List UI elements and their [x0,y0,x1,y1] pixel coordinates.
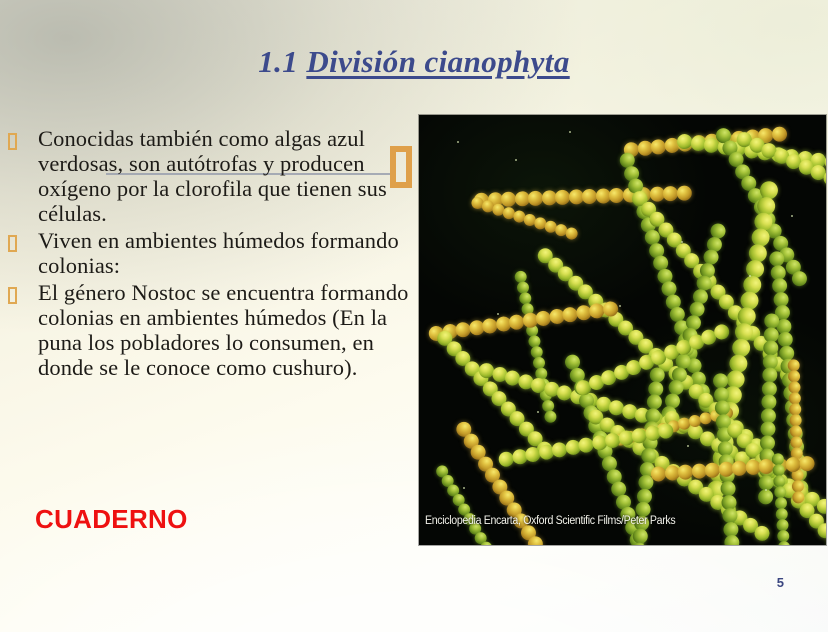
title-underlined-text: División cianophyta [306,44,569,79]
debris-speck [791,215,793,217]
title-number: 1.1 [258,44,306,79]
debris-speck [765,489,767,491]
list-item-text: Conocidas también como algas azul verdos… [38,126,412,226]
box-bullet-icon [8,133,17,150]
list-item: Conocidas también como algas azul verdos… [0,126,412,226]
content-bullet-list: Conocidas también como algas azul verdos… [0,126,412,382]
list-item-text: Viven en ambientes húmedos formando colo… [38,228,412,278]
list-item: Viven en ambientes húmedos formando colo… [0,228,412,278]
debris-speck [569,131,571,133]
debris-speck [497,313,499,315]
debris-speck [749,275,751,277]
box-bullet-icon [8,287,17,304]
cuaderno-note: CUADERNO [35,504,188,535]
debris-speck [681,241,683,243]
image-caption: Enciclopedia Encarta, Oxford Scientific … [425,515,675,527]
slide-canvas: 1.1 División cianophyta Conocidas tambié… [0,0,828,632]
slide-page-number: 5 [777,575,784,590]
debris-speck [619,305,621,307]
page-title: 1.1 División cianophyta [0,44,828,80]
debris-speck [457,141,459,143]
debris-speck [515,159,517,161]
list-item-text: El género Nostoc se encuentra formando c… [38,280,412,380]
box-bullet-icon [8,235,17,252]
list-item: El género Nostoc se encuentra formando c… [0,280,412,380]
debris-speck [463,487,465,489]
debris-speck [687,445,689,447]
nostoc-micrograph-image: Enciclopedia Encarta, Oxford Scientific … [419,115,826,545]
debris-speck [537,411,539,413]
cell-filament [783,359,805,503]
cell-filament [509,270,558,424]
